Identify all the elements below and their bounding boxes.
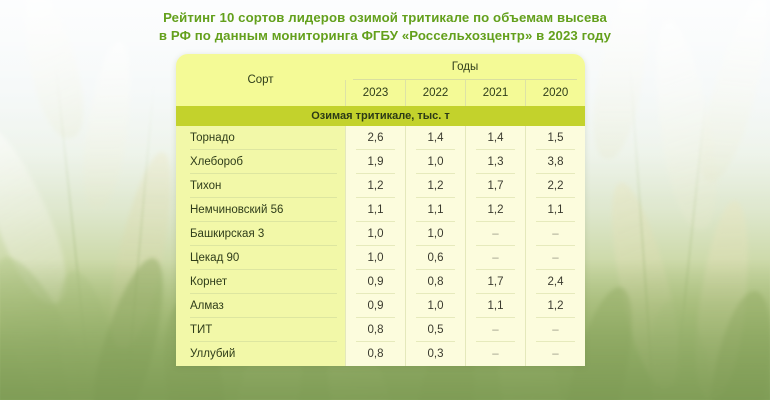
table-row: Торнадо 2,6 1,4 1,4 1,5: [176, 126, 585, 150]
table-row: Хлебороб 1,9 1,0 1,3 3,8: [176, 150, 585, 174]
cell-values: 1,0 1,0 – –: [345, 222, 585, 246]
table-body: Торнадо 2,6 1,4 1,4 1,5 Хлебороб 1,9 1,0…: [176, 126, 585, 366]
cell-value-2020: 2,2: [525, 174, 585, 198]
cell-value-2021: –: [465, 318, 525, 342]
table-row: Уллубий 0,8 0,3 – –: [176, 342, 585, 366]
cell-value-2022: 1,0: [405, 222, 465, 246]
cell-value-2023: 1,1: [345, 198, 405, 222]
cell-value-2023: 0,9: [345, 294, 405, 318]
table-header: Сорт Годы 2023 2022 2021 2020: [176, 54, 585, 106]
cell-value-2023: 0,8: [345, 342, 405, 366]
column-header-year-2022: 2022: [405, 80, 465, 106]
page-title-line-1: Рейтинг 10 сортов лидеров озимой тритика…: [0, 9, 770, 27]
section-banner: Озимая тритикале, тыс. т: [176, 106, 585, 126]
cell-values: 2,6 1,4 1,4 1,5: [345, 126, 585, 150]
cell-values: 1,1 1,1 1,2 1,1: [345, 198, 585, 222]
table-row: Алмаз 0,9 1,0 1,1 1,2: [176, 294, 585, 318]
cell-variety-name: Башкирская 3: [176, 222, 345, 246]
cell-value-2020: 2,4: [525, 270, 585, 294]
cell-value-2021: 1,1: [465, 294, 525, 318]
column-header-year-2023: 2023: [345, 80, 405, 106]
column-group-header-years: Годы: [345, 57, 585, 77]
cell-value-2022: 1,4: [405, 126, 465, 150]
cell-value-2021: 1,2: [465, 198, 525, 222]
table-row: Корнет 0,9 0,8 1,7 2,4: [176, 270, 585, 294]
cell-value-2021: –: [465, 222, 525, 246]
cell-value-2023: 1,2: [345, 174, 405, 198]
cell-variety-name: Корнет: [176, 270, 345, 294]
cell-value-2020: –: [525, 246, 585, 270]
cell-value-2020: 1,1: [525, 198, 585, 222]
cell-variety-name: Немчиновский 56: [176, 198, 345, 222]
cell-value-2020: –: [525, 222, 585, 246]
cell-value-2020: –: [525, 342, 585, 366]
cell-value-2022: 0,3: [405, 342, 465, 366]
column-header-sort: Сорт: [176, 54, 345, 106]
table-row: Тихон 1,2 1,2 1,7 2,2: [176, 174, 585, 198]
cell-value-2023: 1,0: [345, 246, 405, 270]
infographic-stage: Рейтинг 10 сортов лидеров озимой тритика…: [0, 0, 770, 400]
cell-value-2022: 0,6: [405, 246, 465, 270]
cell-value-2022: 0,8: [405, 270, 465, 294]
column-header-year-2021: 2021: [465, 80, 525, 106]
cell-value-2021: –: [465, 246, 525, 270]
table-row: Цекад 90 1,0 0,6 – –: [176, 246, 585, 270]
cell-value-2023: 1,9: [345, 150, 405, 174]
cell-value-2021: 1,4: [465, 126, 525, 150]
cell-value-2022: 1,0: [405, 150, 465, 174]
cell-value-2020: 1,2: [525, 294, 585, 318]
cell-value-2023: 0,9: [345, 270, 405, 294]
cell-variety-name: Цекад 90: [176, 246, 345, 270]
cell-variety-name: Тихон: [176, 174, 345, 198]
cell-values: 1,0 0,6 – –: [345, 246, 585, 270]
cell-value-2022: 0,5: [405, 318, 465, 342]
cell-value-2020: –: [525, 318, 585, 342]
cell-value-2022: 1,0: [405, 294, 465, 318]
column-header-year-2020: 2020: [525, 80, 585, 106]
year-column-headers: 2023 2022 2021 2020: [345, 80, 585, 106]
cell-value-2020: 3,8: [525, 150, 585, 174]
cell-value-2023: 0,8: [345, 318, 405, 342]
cell-value-2023: 1,0: [345, 222, 405, 246]
cell-values: 0,9 1,0 1,1 1,2: [345, 294, 585, 318]
ranking-table: Сорт Годы 2023 2022 2021 2020 Озимая три…: [176, 54, 585, 366]
cell-values: 1,2 1,2 1,7 2,2: [345, 174, 585, 198]
cell-values: 1,9 1,0 1,3 3,8: [345, 150, 585, 174]
cell-value-2023: 2,6: [345, 126, 405, 150]
cell-values: 0,8 0,5 – –: [345, 318, 585, 342]
cell-value-2021: 1,7: [465, 174, 525, 198]
cell-variety-name: Торнадо: [176, 126, 345, 150]
cell-value-2022: 1,1: [405, 198, 465, 222]
cell-value-2021: –: [465, 342, 525, 366]
table-row: Башкирская 3 1,0 1,0 – –: [176, 222, 585, 246]
cell-value-2022: 1,2: [405, 174, 465, 198]
cell-value-2020: 1,5: [525, 126, 585, 150]
table-row: Немчиновский 56 1,1 1,1 1,2 1,1: [176, 198, 585, 222]
page-title-line-2: в РФ по данным мониторинга ФГБУ «Россель…: [0, 27, 770, 45]
cell-variety-name: ТИТ: [176, 318, 345, 342]
cell-value-2021: 1,7: [465, 270, 525, 294]
cell-variety-name: Хлебороб: [176, 150, 345, 174]
cell-value-2021: 1,3: [465, 150, 525, 174]
page-title: Рейтинг 10 сортов лидеров озимой тритика…: [0, 9, 770, 45]
table-row: ТИТ 0,8 0,5 – –: [176, 318, 585, 342]
cell-variety-name: Алмаз: [176, 294, 345, 318]
cell-values: 0,9 0,8 1,7 2,4: [345, 270, 585, 294]
cell-variety-name: Уллубий: [176, 342, 345, 366]
cell-values: 0,8 0,3 – –: [345, 342, 585, 366]
